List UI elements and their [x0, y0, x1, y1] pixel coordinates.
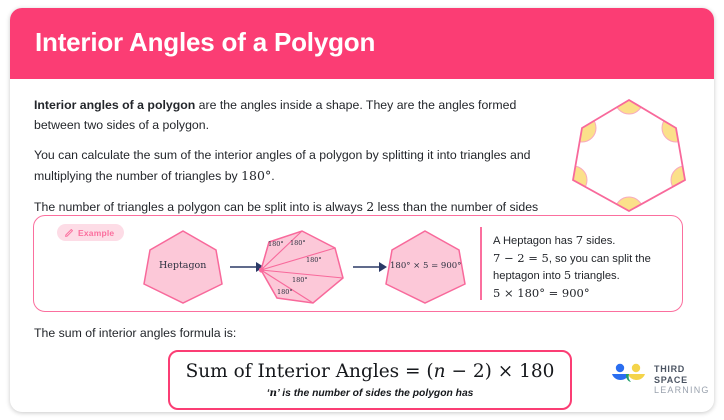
formula-caption-variable: n — [269, 387, 277, 399]
logo-line-2: LEARNING — [654, 385, 710, 396]
logo-wordmark: THIRD SPACE LEARNING — [654, 364, 710, 396]
inline-value-2: 2 — [366, 199, 374, 214]
page-header: Interior Angles of a Polygon — [10, 8, 714, 79]
brand-logo: THIRD SPACE LEARNING — [610, 360, 710, 392]
formula-equation: Sum of Interior Angles = (n − 2) × 180 — [186, 361, 555, 383]
subtraction-expression: 7 − 2 = 5 — [493, 251, 549, 265]
formula-box: Sum of Interior Angles = (n − 2) × 180 ‘… — [168, 350, 572, 410]
third-space-learning-mark-icon — [610, 362, 648, 388]
result-heptagon-caption: 180° × 5 = 900° — [390, 261, 461, 271]
angle-label-1: 180° — [268, 240, 284, 248]
paragraph-definition: Interior angles of a polygon are the ang… — [34, 96, 544, 135]
angle-label-5: 180° — [277, 288, 293, 296]
hero-heptagon-diagram — [570, 92, 688, 218]
explanation-line-4: 5 × 180° = 900° — [493, 285, 673, 302]
triangle-count: 5 — [564, 268, 571, 282]
formula-lead-text: The sum of interior angles formula is: — [34, 326, 236, 340]
logo-line-1: THIRD SPACE — [654, 364, 710, 385]
inline-value-180: 180° — [241, 168, 271, 183]
example-divider — [480, 227, 482, 300]
page-root: Interior Angles of a Polygon Interior an… — [0, 0, 724, 420]
example-box: Example Heptagon — [33, 215, 683, 312]
page-title: Interior Angles of a Polygon — [35, 27, 375, 58]
example-arrow-2 — [353, 260, 387, 274]
explanation-line-3: heptagon into 5 triangles. — [493, 267, 673, 285]
angle-label-4: 180° — [292, 276, 308, 284]
paragraph-method: You can calculate the sum of the interio… — [34, 146, 544, 186]
explanation-line-2: 7 − 2 = 5, so you can split the — [493, 250, 673, 268]
example-shape-triangulated-heptagon: 180° 180° 180° 180° 180° — [259, 228, 347, 306]
example-shape-plain-heptagon: Heptagon — [142, 228, 224, 306]
example-shape-result-heptagon: 180° × 5 = 900° — [383, 228, 468, 306]
explanation-line-1: A Heptagon has 7 sides. — [493, 232, 673, 250]
hero-heptagon-svg — [570, 92, 688, 218]
sides-count: 7 — [576, 233, 583, 247]
angle-label-2: 180° — [290, 239, 306, 247]
definition-term: Interior angles of a polygon — [34, 98, 195, 112]
lesson-card: Interior Angles of a Polygon Interior an… — [10, 8, 714, 412]
arrow-right-icon — [353, 260, 387, 274]
example-explanation: A Heptagon has 7 sides. 7 − 2 = 5, so yo… — [493, 232, 673, 301]
angle-label-3: 180° — [306, 256, 322, 264]
formula-caption: ‘n’ is the number of sides the polygon h… — [267, 387, 474, 399]
plain-heptagon-caption: Heptagon — [159, 260, 206, 271]
